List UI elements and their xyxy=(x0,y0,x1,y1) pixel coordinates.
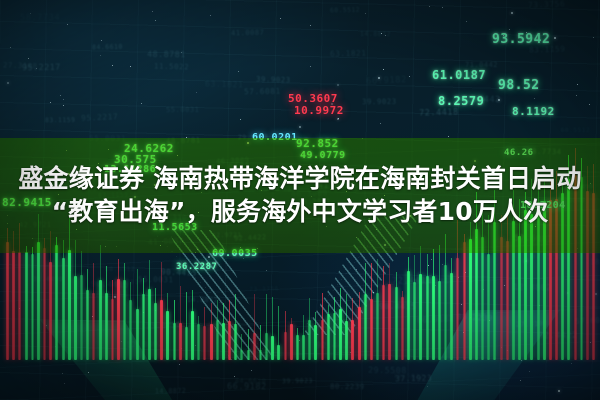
vignette-overlay xyxy=(0,0,600,400)
banner-image: 41.008792.442257.608178.201146.300911.50… xyxy=(0,0,600,400)
